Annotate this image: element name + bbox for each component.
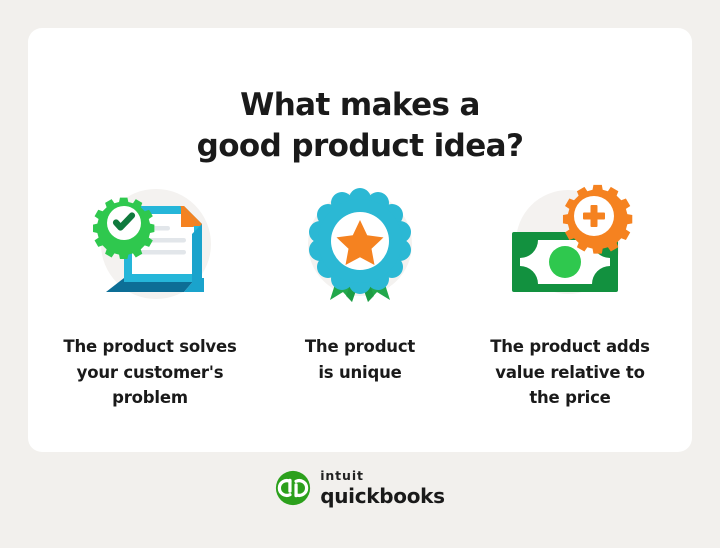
feature-caption: The product is unique	[280, 334, 440, 385]
feature-column: The product is unique	[260, 182, 460, 385]
award-ribbon-star-icon	[290, 182, 430, 312]
feature-column: The product solves your customer's probl…	[50, 182, 250, 411]
caption-line: The product solves	[63, 337, 236, 356]
caption-line: is unique	[318, 363, 401, 382]
caption-line: The product adds	[490, 337, 650, 356]
caption-line: your customer's	[77, 363, 224, 382]
feature-column: The product adds value relative to the p…	[470, 182, 670, 411]
content-card: What makes a good product idea?	[28, 28, 692, 452]
intuit-quickbooks-logo: intuit quickbooks	[275, 470, 445, 506]
footer: intuit quickbooks	[0, 470, 720, 506]
page-title-line-2: good product idea?	[28, 126, 692, 167]
page-title: What makes a good product idea?	[28, 85, 692, 167]
feature-columns: The product solves your customer's probl…	[50, 182, 670, 411]
logo-wordmark: intuit quickbooks	[320, 470, 445, 506]
logo-quickbooks-text: quickbooks	[320, 486, 445, 506]
caption-line: value relative to	[495, 363, 644, 382]
feature-caption: The product solves your customer's probl…	[50, 334, 250, 411]
caption-line: problem	[112, 388, 188, 407]
gear-check-document-icon	[80, 182, 220, 312]
feature-caption: The product adds value relative to the p…	[470, 334, 670, 411]
quickbooks-mark-icon	[275, 470, 311, 506]
caption-line: the price	[529, 388, 610, 407]
caption-line: The product	[305, 337, 415, 356]
logo-intuit-text: intuit	[320, 470, 445, 483]
infographic-page: What makes a good product idea?	[0, 0, 720, 548]
money-gear-plus-icon	[500, 182, 640, 312]
page-title-line-1: What makes a	[28, 85, 692, 126]
